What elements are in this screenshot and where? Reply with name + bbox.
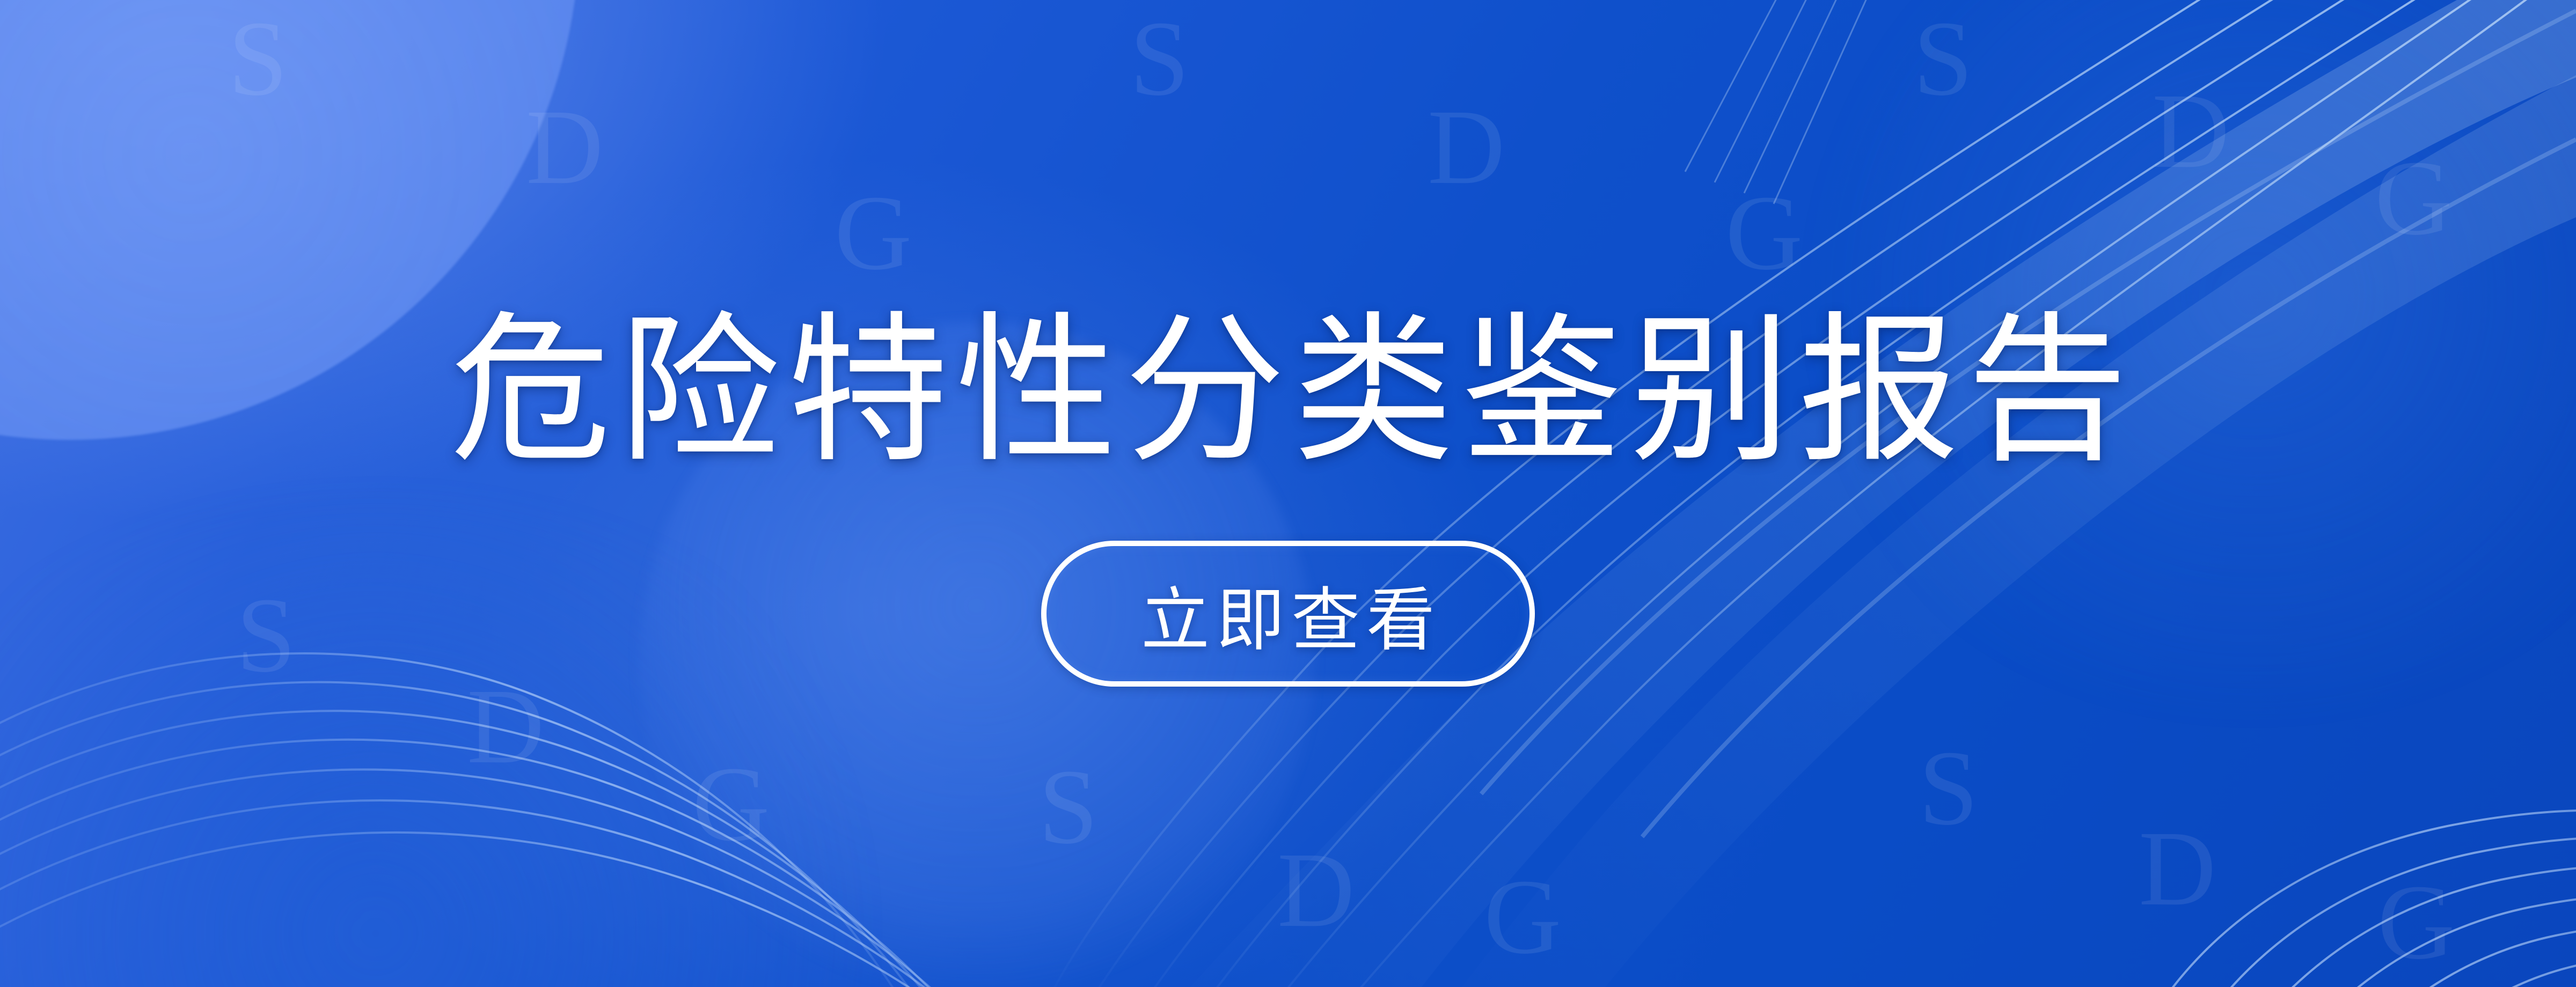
cta-container: 立即查看	[1041, 541, 1535, 687]
banner-content: 危险特性分类鉴别报告 立即查看	[0, 0, 2576, 987]
hero-banner: S D G S D G S D G S D G S D G S D G 危险特性…	[0, 0, 2576, 987]
banner-title: 危险特性分类鉴别报告	[450, 300, 2135, 481]
view-now-button[interactable]: 立即查看	[1041, 541, 1535, 687]
